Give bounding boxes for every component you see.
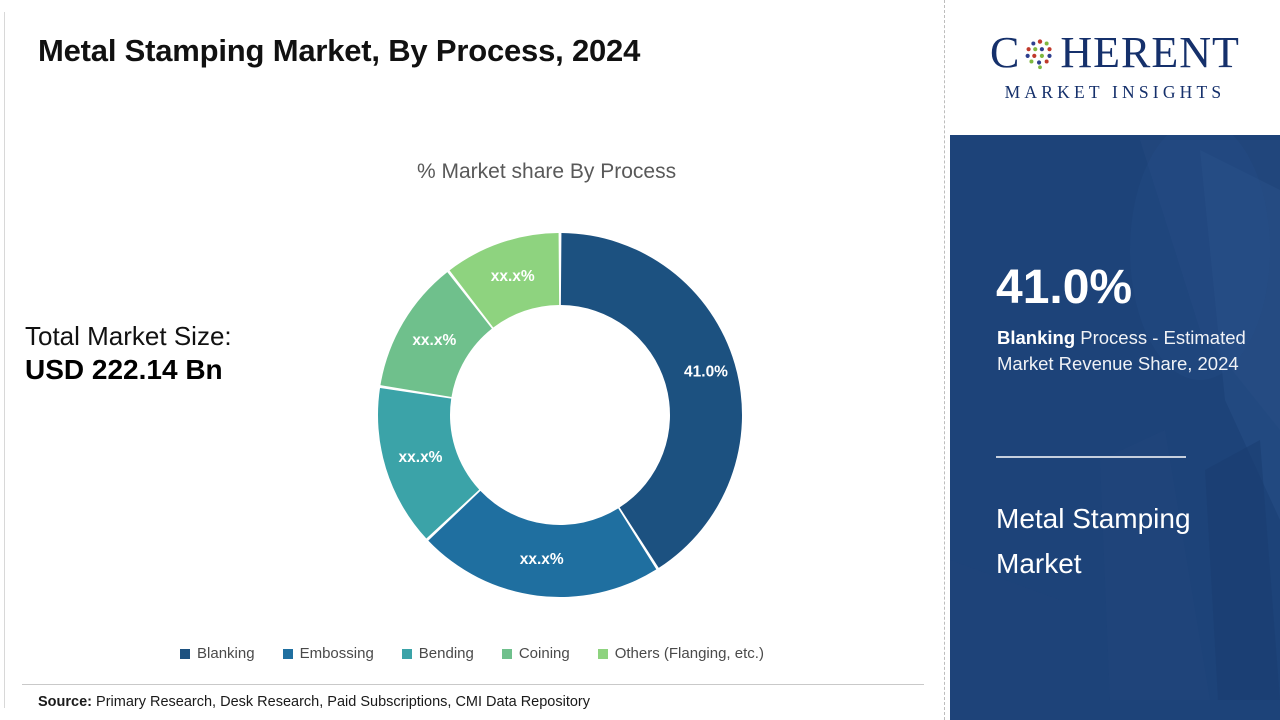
logo-tagline: MARKET INSIGHTS [1005, 82, 1226, 103]
legend-item-embossing[interactable]: Embossing [283, 645, 374, 662]
legend-swatch-icon [283, 649, 293, 659]
total-market-size-block: Total Market Size: USD 222.14 Bn [25, 322, 325, 388]
panel-separator [944, 0, 945, 720]
highlight-stat-description: Blanking Process - Estimated Market Reve… [997, 325, 1247, 378]
source-text: Primary Research, Desk Research, Paid Su… [96, 694, 590, 710]
donut-label-bending: xx.x% [399, 449, 443, 466]
left-edge-divider [4, 12, 5, 708]
total-market-size-label: Total Market Size: [25, 322, 325, 351]
highlight-stat-segment: Blanking [997, 327, 1075, 348]
page-title: Metal Stamping Market, By Process, 2024 [38, 33, 640, 69]
market-name: Metal Stamping Market [996, 496, 1206, 587]
summary-panel: C [950, 0, 1280, 720]
highlight-stat-value: 41.0% [996, 264, 1132, 312]
chart-legend: BlankingEmbossingBendingCoiningOthers (F… [0, 645, 944, 662]
logo-letters-herent: HERENT [1060, 31, 1240, 75]
logo-letter-c: C [990, 31, 1020, 75]
legend-label: Coining [519, 645, 570, 662]
logo-divider [950, 133, 1280, 135]
donut-chart-svg: 41.0%xx.x%xx.x%xx.x%xx.x% [370, 225, 750, 605]
legend-swatch-icon [502, 649, 512, 659]
legend-label: Blanking [197, 645, 255, 662]
legend-label: Embossing [300, 645, 374, 662]
source-line: Source: Primary Research, Desk Research,… [38, 694, 590, 710]
legend-item-bending[interactable]: Bending [402, 645, 474, 662]
donut-label-others-flanging-etc: xx.x% [491, 268, 535, 285]
source-divider [22, 684, 924, 685]
source-label: Source: [38, 694, 92, 710]
donut-label-embossing: xx.x% [520, 551, 564, 568]
donut-chart: 41.0%xx.x%xx.x%xx.x%xx.x% [370, 225, 750, 605]
summary-divider [996, 456, 1186, 458]
legend-item-blanking[interactable]: Blanking [180, 645, 255, 662]
infographic-page: Metal Stamping Market, By Process, 2024 … [0, 0, 1280, 720]
globe-icon [1021, 34, 1059, 72]
legend-swatch-icon [598, 649, 608, 659]
donut-slice-blanking [561, 233, 742, 568]
legend-label: Others (Flanging, etc.) [615, 645, 764, 662]
legend-swatch-icon [402, 649, 412, 659]
donut-slices [378, 233, 742, 597]
donut-label-blanking: 41.0% [684, 364, 728, 381]
legend-item-coining[interactable]: Coining [502, 645, 570, 662]
legend-label: Bending [419, 645, 474, 662]
legend-swatch-icon [180, 649, 190, 659]
logo-wordmark: C [990, 31, 1240, 75]
legend-item-others-flanging-etc[interactable]: Others (Flanging, etc.) [598, 645, 764, 662]
chart-subtitle: % Market share By Process [417, 160, 676, 184]
total-market-size-value: USD 222.14 Bn [25, 351, 325, 389]
donut-label-coining: xx.x% [412, 332, 456, 349]
chart-panel: Metal Stamping Market, By Process, 2024 … [0, 0, 944, 720]
company-logo: C [950, 0, 1280, 133]
